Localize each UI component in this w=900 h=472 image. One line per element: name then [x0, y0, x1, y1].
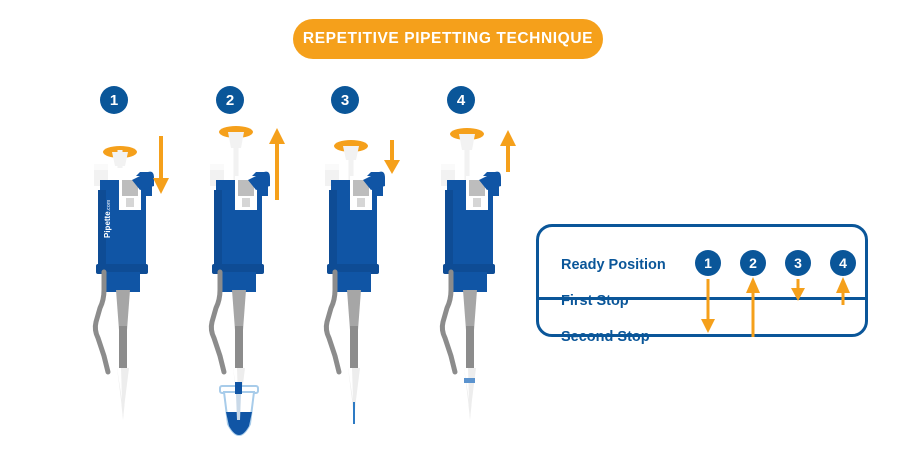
legend-badge-3: 3 — [785, 250, 811, 276]
pipette-1-graphic: Pipette.com — [70, 0, 190, 472]
legend-badge-4: 4 — [830, 250, 856, 276]
legend-arrow-2-up — [742, 277, 764, 337]
legend-label-ready-position: Ready Position — [561, 257, 666, 273]
legend-arrow-3-down — [787, 279, 809, 303]
legend-panel: Ready Position First Stop Second Stop 1 … — [536, 224, 868, 337]
pipette-4-graphic — [417, 0, 537, 472]
illustration-canvas: REPETITIVE PIPETTING TECHNIQUE 1 2 3 4 — [0, 0, 900, 472]
legend-label-first-stop: First Stop — [561, 293, 629, 309]
pipette-figure-1: Pipette.com — [70, 0, 190, 472]
step-1-arrow-down — [148, 134, 174, 196]
legend-badge-2: 2 — [740, 250, 766, 276]
step-2-arrow-up — [264, 126, 290, 202]
pipette-figure-4 — [417, 0, 537, 472]
legend-arrow-4-up — [832, 277, 854, 305]
liquid-stream — [353, 402, 355, 424]
pipette-figure-3 — [301, 0, 421, 472]
residual-liquid-band — [464, 378, 475, 383]
step-3-arrow-down — [379, 138, 405, 176]
pipette-figure-2 — [186, 0, 306, 472]
step-4-arrow-up — [495, 128, 521, 174]
legend-badge-1: 1 — [695, 250, 721, 276]
legend-label-second-stop: Second Stop — [561, 329, 650, 345]
legend-arrow-1-down — [697, 279, 719, 335]
pipette-3-graphic — [301, 0, 421, 472]
pipette-2-graphic — [186, 0, 306, 472]
